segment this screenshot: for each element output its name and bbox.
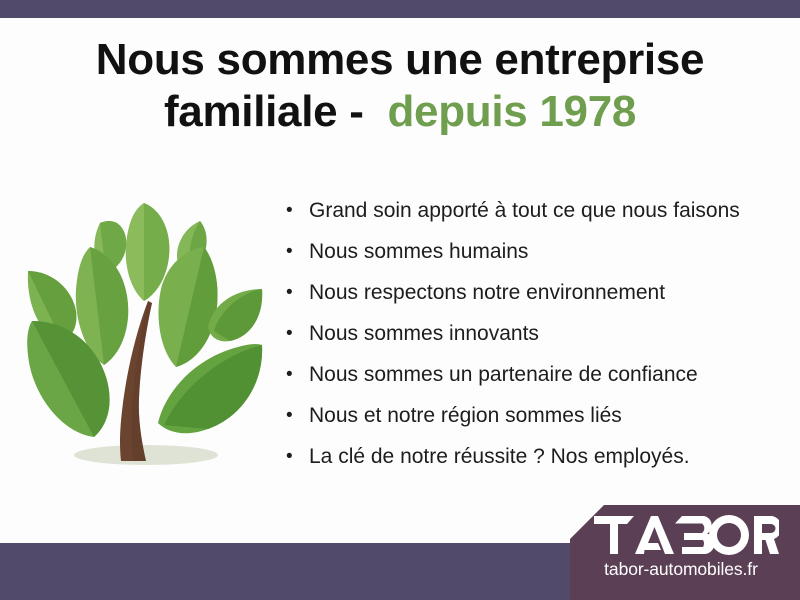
tabor-wordmark-icon xyxy=(594,514,779,556)
tree-shadow xyxy=(74,445,218,465)
title-line-2: familiale - depuis 1978 xyxy=(0,86,800,138)
tree-illustration xyxy=(18,185,270,485)
list-item: Nous sommes humains xyxy=(286,231,786,272)
logo-url-text[interactable]: tabor-automobiles.fr xyxy=(570,559,800,580)
title-line-1: Nous sommes une entreprise xyxy=(0,34,800,86)
list-item: La clé de notre réussite ? Nos employés. xyxy=(286,436,786,477)
top-accent-band xyxy=(0,0,800,18)
list-item: Nous et notre région sommes liés xyxy=(286,395,786,436)
list-item: Nous sommes un partenaire de confiance xyxy=(286,354,786,395)
title-accent-year: depuis 1978 xyxy=(387,87,636,136)
list-item: Nous respectons notre environnement xyxy=(286,272,786,313)
title-line-2-prefix: familiale - xyxy=(164,87,388,136)
list-item: Nous sommes innovants xyxy=(286,313,786,354)
presentation-slide: Nous sommes une entreprise familiale - d… xyxy=(0,0,800,600)
logo-panel[interactable]: tabor-automobiles.fr xyxy=(570,505,800,600)
list-item: Grand soin apporté à tout ce que nous fa… xyxy=(286,190,786,231)
bullet-list: Grand soin apporté à tout ce que nous fa… xyxy=(286,190,786,477)
page-title: Nous sommes une entreprise familiale - d… xyxy=(0,34,800,138)
